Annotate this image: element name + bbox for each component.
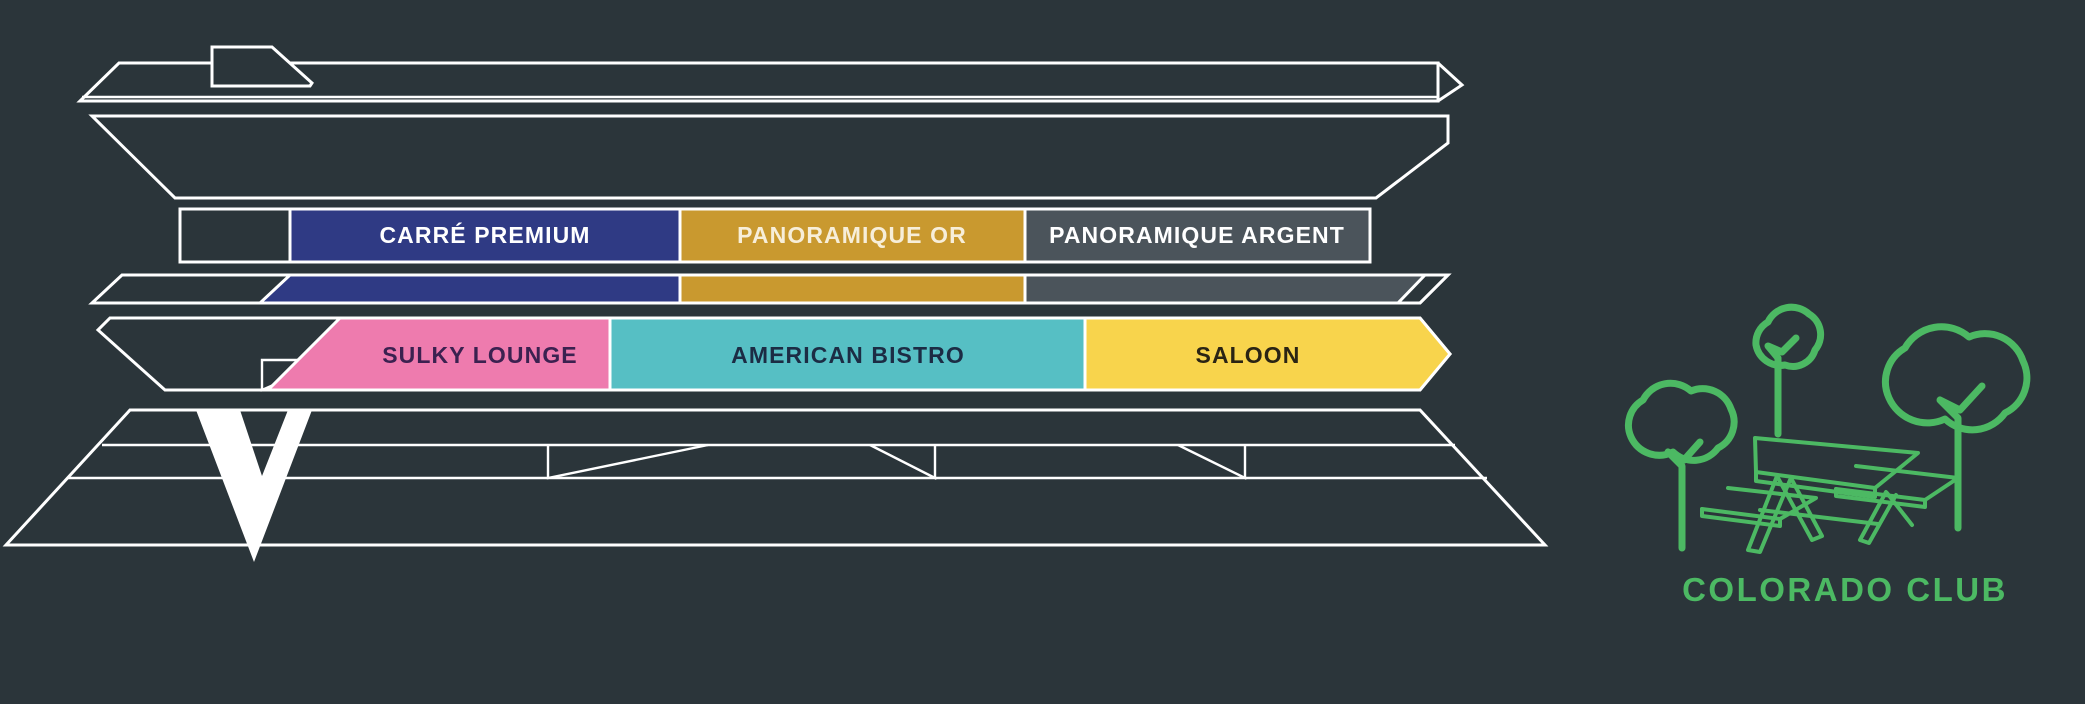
sun-deck-stern [1375, 63, 1462, 101]
wheelhouse-icon [212, 47, 312, 86]
legend-label-panoramique-or: PANORAMIQUE OR [737, 222, 967, 248]
hull-truss-2 [870, 445, 935, 478]
hull-truss-3 [1178, 445, 1245, 478]
deck-plan-svg: CARRÉ PREMIUM PANORAMIQUE OR PANORAMIQUE… [0, 0, 2085, 704]
deck-open [92, 116, 1448, 198]
deck-panorama [92, 275, 1448, 303]
hull-truss-1 [548, 445, 708, 478]
legend-cell-empty [180, 209, 290, 262]
tree-icon-left [1628, 383, 1734, 548]
legend-label-carre-premium: CARRÉ PREMIUM [379, 221, 590, 248]
deck-venue: SULKY LOUNGE AMERICAN BISTRO SALOON [98, 318, 1450, 390]
venue-label-saloon: SALOON [1196, 342, 1301, 368]
deck-sun [80, 47, 1462, 101]
picnic-table-icon [1702, 438, 1958, 552]
colorado-club-caption: COLORADO CLUB [1682, 571, 2008, 608]
venue-label-sulky-lounge: SULKY LOUNGE [382, 342, 578, 368]
legend-label-panoramique-argent: PANORAMIQUE ARGENT [1049, 222, 1345, 248]
tree-icon-middle [1756, 307, 1821, 434]
panorama-deck-segment-carre-premium[interactable] [260, 275, 680, 303]
panorama-deck-segment-panoramique-argent[interactable] [1025, 275, 1425, 303]
open-deck-outline [92, 116, 1448, 198]
venue-label-american-bistro: AMERICAN BISTRO [731, 342, 965, 368]
panorama-deck-segment-panoramique-or[interactable] [680, 275, 1025, 303]
colorado-club-illustration: COLORADO CLUB [1628, 307, 2026, 608]
v-logo [196, 410, 312, 562]
deck-plan-canvas: CARRÉ PREMIUM PANORAMIQUE OR PANORAMIQUE… [0, 0, 2085, 704]
cabin-class-legend: CARRÉ PREMIUM PANORAMIQUE OR PANORAMIQUE… [180, 209, 1370, 262]
